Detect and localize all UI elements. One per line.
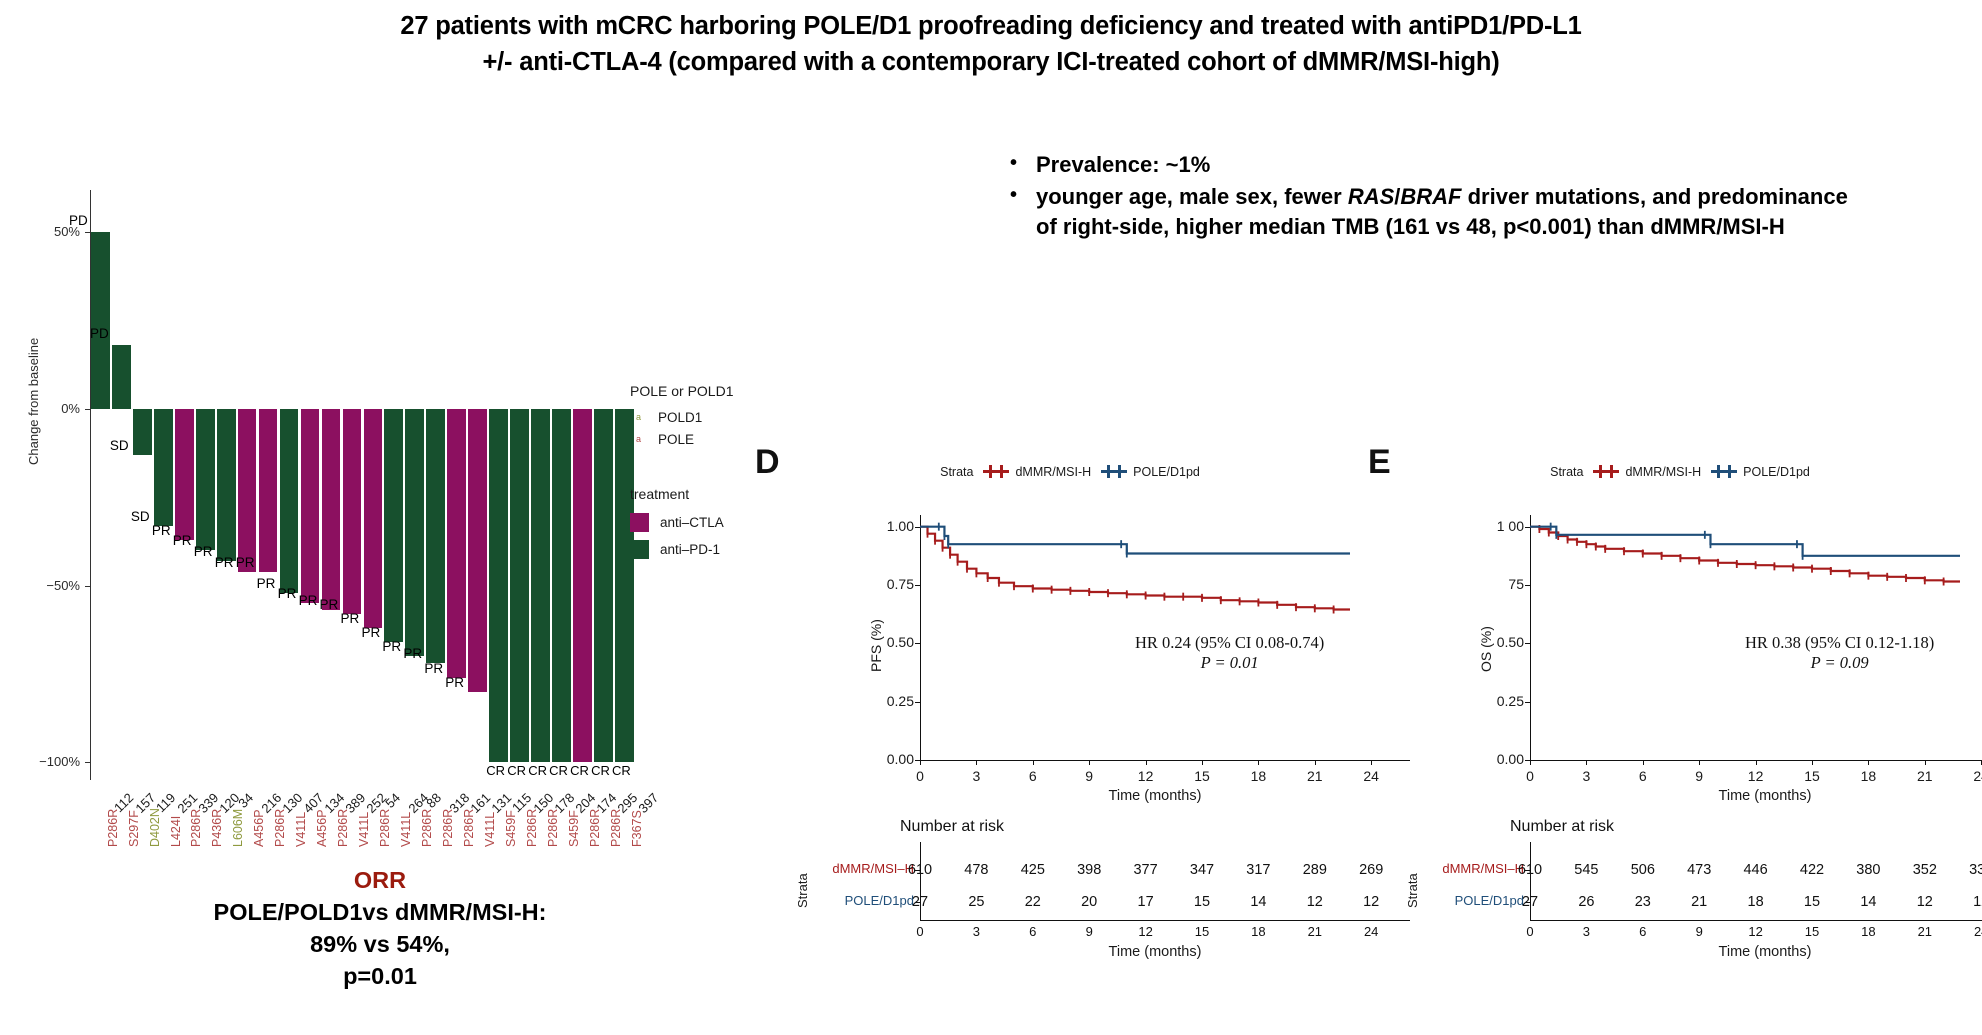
waterfall-mutation-label: L606M [231,809,245,847]
km-x-tick-label: 0 [905,768,935,784]
km-curve-pole [920,527,1350,554]
risk-table-cell: 26 [1569,894,1603,910]
waterfall-mutation-label: P286R [588,809,602,847]
risk-table-x-tick: 0 [907,924,933,939]
waterfall-response-label: PR [445,675,464,690]
waterfall-response-label: PR [320,597,339,612]
waterfall-bar[interactable] [343,409,362,614]
risk-table-x-tick: 21 [1302,924,1328,939]
km-y-tick-label: 0.00 [868,751,914,767]
orr-line2: 89% vs 54%, [140,929,620,961]
km-y-tick-label: 1 00 [1478,518,1524,534]
waterfall-response-label: PR [403,646,422,661]
waterfall-bar[interactable] [175,409,194,540]
legend-swatch [630,513,649,532]
risk-table-cell: 18 [1739,894,1773,910]
waterfall-mutation-label: L424I [169,816,183,847]
waterfall-y-tick-label: −50% [28,578,80,593]
waterfall-response-label: PD [90,326,109,341]
km-statistics-annotation: HR 0.24 (95% CI 0.08-0.74)P = 0.01 [1135,633,1324,673]
orr-line3: p=0.01 [140,961,620,993]
risk-table-cell: 473 [1682,862,1716,878]
waterfall-mutation-label: P436R [210,809,224,847]
risk-table-cell: 377 [1129,862,1163,878]
waterfall-response-label: PR [278,586,297,601]
risk-table-cell: 12 [1298,894,1332,910]
km-y-axis-line [920,515,921,760]
risk-table-title: Number at risk [900,818,1004,836]
treatment-legend: anti–CTLAanti–PD-1 [630,509,780,563]
legend-label: POLD1 [658,410,702,425]
list-item: • Prevalence: ~1% [1010,150,1870,179]
strata-legend-label: dMMR/MSI-H [1625,465,1701,479]
km-x-tick-mark [1925,760,1926,765]
risk-table-cell: 317 [1241,862,1275,878]
waterfall-mutation-label: P286R [336,809,350,847]
strata-legend-title: Strata [940,465,973,479]
km-curves [790,455,1350,770]
waterfall-bar[interactable] [154,409,173,526]
km-y-tick-label: 0.25 [1478,693,1524,709]
waterfall-bar[interactable] [301,409,320,603]
waterfall-y-tick-mark [85,409,90,410]
risk-table-x-tick: 24 [1968,924,1982,939]
km-x-tick-mark [1643,760,1644,765]
risk-table-x-tick: 0 [1517,924,1543,939]
waterfall-response-label: PR [152,523,171,538]
waterfall-tmb-label: 88 [424,790,445,811]
risk-table-x-tick: 24 [1358,924,1384,939]
km-x-tick-label: 15 [1797,768,1827,784]
waterfall-mutation-label: S459F [504,810,518,847]
pfs-kaplan-meier-panel: D StratadMMR/MSI-HPOLE/D1pdPFS (%)0.000.… [790,455,1350,985]
waterfall-response-label: PR [424,661,443,676]
km-x-tick-label: 12 [1131,768,1161,784]
waterfall-response-label: SD [131,509,150,524]
waterfall-mutation-label: F367S [630,810,644,847]
waterfall-y-tick-label: −100% [28,754,80,769]
orr-summary: ORR POLE/POLD1vs dMMR/MSI-H: 89% vs 54%,… [140,865,620,993]
waterfall-bar[interactable] [91,232,110,409]
waterfall-y-tick-label: 0% [28,401,80,416]
strata-legend-label: POLE/D1pd [1743,465,1810,479]
km-x-tick-label: 12 [1741,768,1771,784]
waterfall-bar[interactable] [426,409,445,663]
waterfall-mutation-label: P286R [273,809,287,847]
risk-table-cell: 289 [1298,862,1332,878]
slide-title-line1: 27 patients with mCRC harboring POLE/D1 … [0,8,1982,44]
waterfall-response-label: CR [591,763,610,778]
risk-table-x-tick: 12 [1743,924,1769,939]
waterfall-y-tick-mark [85,586,90,587]
bullet-text: Prevalence: ~1% [1036,150,1870,179]
risk-table-cell: 446 [1739,862,1773,878]
risk-table-x-tick: 18 [1245,924,1271,939]
risk-table-title: Number at risk [1510,818,1614,836]
km-x-tick-label: 15 [1187,768,1217,784]
km-x-axis-line [920,760,1410,761]
waterfall-mutation-label: S459F [567,810,581,847]
waterfall-bar[interactable] [217,409,236,561]
bullet-marker: • [1010,150,1036,179]
waterfall-y-tick-mark [85,762,90,763]
risk-table-x-tick: 3 [1573,924,1599,939]
waterfall-bar[interactable] [238,409,257,572]
waterfall-mutation-label: D402N [148,808,162,847]
km-y-tick-label: 0.00 [1478,751,1524,767]
risk-table-x-tick: 9 [1076,924,1102,939]
bullet-text: younger age, male sex, fewer RAS/BRAF dr… [1036,182,1870,241]
waterfall-mutation-label: P286R [525,809,539,847]
strata-legend-title: Strata [1550,465,1583,479]
km-y-axis-line [1530,515,1531,760]
km-x-tick-label: 24 [1356,768,1386,784]
km-x-tick-label: 24 [1966,768,1982,784]
km-x-tick-label: 18 [1243,768,1273,784]
waterfall-bar[interactable] [510,409,529,762]
risk-table-x-tick: 9 [1686,924,1712,939]
risk-table-row-label: POLE/D1pd [1414,893,1524,908]
risk-table-cell: 27 [903,894,937,910]
waterfall-bar[interactable] [322,409,341,610]
waterfall-mutation-label: A456P [315,809,329,847]
waterfall-response-label: PR [194,544,213,559]
risk-table-baseline [1530,920,1982,921]
risk-table-cell: 14 [1241,894,1275,910]
risk-table-cell: 12 [1964,894,1982,910]
km-x-tick-label: 6 [1018,768,1048,784]
waterfall-mutation-label: V411L [294,812,308,847]
waterfall-mutation-label: P286R [189,809,203,847]
risk-table-cell: 425 [1016,862,1050,878]
km-x-tick-mark [1868,760,1869,765]
risk-table-cell: 380 [1851,862,1885,878]
waterfall-mutation-label: P286R [420,809,434,847]
km-p-value: P = 0.01 [1135,653,1324,673]
km-x-tick-label: 6 [1628,768,1658,784]
km-hr-text: HR 0.24 (95% CI 0.08-0.74) [1135,633,1324,652]
risk-table-cell: 398 [1072,862,1106,878]
os-kaplan-meier-panel: E StratadMMR/MSI-HPOLE/D1pdOS (%)0.000.2… [1400,455,1960,985]
bullet-marker: • [1010,182,1036,241]
waterfall-mutation-label: V411L [357,812,371,847]
waterfall-bar[interactable] [280,409,299,593]
waterfall-mutation-label: V411L [483,812,497,847]
risk-table-baseline [920,920,1410,921]
waterfall-response-label: CR [570,763,589,778]
waterfall-response-label: SD [110,438,129,453]
km-x-tick-mark [1033,760,1034,765]
km-x-tick-mark [1258,760,1259,765]
risk-table-cell: 21 [1682,894,1716,910]
risk-table-cell: 14 [1851,894,1885,910]
risk-table-cell: 27 [1513,894,1547,910]
legend-item[interactable]: anti–PD-1 [630,536,780,563]
panel-letter-e: E [1368,443,1391,482]
km-x-axis-label: Time (months) [1585,788,1945,804]
km-y-tick-label: 0.75 [868,576,914,592]
km-curves [1400,455,1960,770]
km-x-tick-mark [976,760,977,765]
risk-table-x-tick: 12 [1133,924,1159,939]
waterfall-mutation-label: P286R [462,809,476,847]
km-x-tick-label: 21 [1300,768,1330,784]
waterfall-mutation-label: P286R [106,809,120,847]
km-y-tick-label: 0.50 [868,634,914,650]
risk-table-cell: 17 [1129,894,1163,910]
risk-table-cell: 23 [1626,894,1660,910]
risk-table-cell: 352 [1908,862,1942,878]
km-x-tick-mark [1530,760,1531,765]
risk-table-cell: 15 [1795,894,1829,910]
waterfall-response-label: PD [69,213,88,228]
strata-legend-swatch [1711,470,1737,473]
waterfall-response-label: PR [173,533,192,548]
waterfall-tmb-label: 54 [382,790,403,811]
waterfall-mutation-label: P286R [609,809,623,847]
waterfall-response-label: PR [257,576,276,591]
km-hr-text: HR 0.38 (95% CI 0.12-1.18) [1745,633,1934,652]
strata-legend-label: POLE/D1pd [1133,465,1200,479]
risk-table-cell: 330 [1964,862,1982,878]
risk-table-cell: 15 [1185,894,1219,910]
waterfall-plot-area: PDPDSDSDPRPRPRPRPRPRPRPRPRPRPRPRPRPRPRCR… [91,190,636,780]
risk-table-x-tick: 15 [1189,924,1215,939]
waterfall-bar[interactable] [447,409,466,678]
km-x-tick-mark [920,760,921,765]
waterfall-bar[interactable] [552,409,571,762]
slide-title-line2: +/- anti-CTLA-4 (compared with a contemp… [0,44,1982,80]
risk-table-row-label: POLE/D1pd [804,893,914,908]
risk-table-cell: 478 [959,862,993,878]
km-y-tick-label: 1.00 [868,518,914,534]
km-x-tick-mark [1756,760,1757,765]
waterfall-bar[interactable] [364,409,383,628]
waterfall-bar[interactable] [112,345,131,409]
legend-swatch-icon: a [630,409,647,426]
risk-table-x-tick: 18 [1855,924,1881,939]
risk-table-cell: 12 [1354,894,1388,910]
waterfall-response-label: PR [236,555,255,570]
waterfall-mutation-label: V411L [399,812,413,847]
waterfall-bar[interactable] [531,409,550,762]
risk-table-cell: 347 [1185,862,1219,878]
legend-label: anti–PD-1 [660,542,720,557]
waterfall-bar[interactable] [405,409,424,656]
km-curve-dmmr [1530,527,1960,588]
km-x-tick-label: 9 [1684,768,1714,784]
waterfall-mutation-label: P286R [441,809,455,847]
waterfall-y-tick-mark [85,232,90,233]
risk-table-cell: 610 [903,862,937,878]
risk-table-x-tick: 15 [1799,924,1825,939]
legend-item[interactable]: aPOLD1 [630,406,780,428]
waterfall-mutation-label: P286R [378,809,392,847]
list-item: • younger age, male sex, fewer RAS/BRAF … [1010,182,1870,241]
waterfall-response-label: PR [299,593,318,608]
waterfall-response-label: PR [215,555,234,570]
waterfall-mutation-label: S297F [127,810,141,847]
waterfall-bar[interactable] [573,409,592,762]
km-x-tick-label: 21 [1910,768,1940,784]
km-x-tick-mark [1371,760,1372,765]
legend-label: POLE [658,432,694,447]
strata-legend: StratadMMR/MSI-HPOLE/D1pd [1400,465,1960,479]
risk-table-x-tick: 21 [1912,924,1938,939]
waterfall-bar[interactable] [594,409,613,762]
km-x-tick-mark [1315,760,1316,765]
km-x-tick-label: 3 [961,768,991,784]
waterfall-response-label: CR [528,763,547,778]
waterfall-response-label: CR [507,763,526,778]
strata-legend: StratadMMR/MSI-HPOLE/D1pd [790,465,1350,479]
waterfall-bar[interactable] [133,409,152,455]
risk-table-x-tick: 3 [963,924,989,939]
km-y-tick-label: 0.25 [868,693,914,709]
legend-label: anti–CTLA [660,515,724,530]
waterfall-tmb-label: 34 [235,790,256,811]
waterfall-response-label: CR [549,763,568,778]
km-x-tick-label: 18 [1853,768,1883,784]
km-x-tick-label: 0 [1515,768,1545,784]
risk-table-cell: 12 [1908,894,1942,910]
waterfall-bar[interactable] [489,409,508,762]
risk-table-cell: 22 [1016,894,1050,910]
risk-table-cell: 422 [1795,862,1829,878]
km-x-tick-mark [1089,760,1090,765]
risk-table-x-axis-label: Time (months) [1585,944,1945,960]
risk-table-cell: 269 [1354,862,1388,878]
waterfall-mutation-label: P286R [546,809,560,847]
strata-legend-swatch [983,470,1009,473]
km-x-tick-mark [1586,760,1587,765]
km-y-tick-label: 0.50 [1478,634,1524,650]
km-x-tick-label: 9 [1074,768,1104,784]
km-x-tick-mark [1202,760,1203,765]
legend-swatch [630,540,649,559]
orr-heading: ORR [140,865,620,897]
risk-table-cell: 20 [1072,894,1106,910]
waterfall-bar[interactable] [196,409,215,550]
treatment-legend-title: treatment [630,486,780,502]
km-x-tick-label: 3 [1571,768,1601,784]
strata-legend-swatch [1101,470,1127,473]
km-x-axis-label: Time (months) [975,788,1335,804]
waterfall-response-label: CR [486,763,505,778]
waterfall-mutation-label: A456P [252,809,266,847]
risk-table-cell: 545 [1569,862,1603,878]
km-curve-pole [1530,527,1960,556]
waterfall-bar[interactable] [384,409,403,642]
km-y-tick-label: 75 [1478,576,1524,592]
waterfall-bar[interactable] [468,409,487,692]
waterfall-response-label: CR [612,763,631,778]
risk-table-x-tick: 6 [1020,924,1046,939]
risk-table-cell: 25 [959,894,993,910]
km-x-tick-mark [1812,760,1813,765]
waterfall-response-label: PR [382,639,401,654]
waterfall-response-label: PR [341,611,360,626]
km-statistics-annotation: HR 0.38 (95% CI 0.12-1.18)P = 0.09 [1745,633,1934,673]
risk-table-row-label: dMMR/MSI–H [1414,861,1524,876]
gene-legend-title: POLE or POLD1 [630,383,780,399]
waterfall-bar[interactable] [259,409,278,572]
km-x-tick-mark [1699,760,1700,765]
strata-legend-swatch [1593,470,1619,473]
km-x-tick-mark [1146,760,1147,765]
slide-title: 27 patients with mCRC harboring POLE/D1 … [0,8,1982,80]
risk-table-x-axis-label: Time (months) [975,944,1335,960]
bullet-list: • Prevalence: ~1% • younger age, male se… [1010,150,1870,244]
km-curve-dmmr [920,527,1350,616]
risk-table-row-label: dMMR/MSI–H [804,861,914,876]
waterfall-chart: Change from baseline 50%0%−50%−100% PDPD… [20,165,660,805]
risk-table-cell: 506 [1626,862,1660,878]
km-p-value: P = 0.09 [1745,653,1934,673]
risk-table-cell: 610 [1513,862,1547,878]
legend-item[interactable]: anti–CTLA [630,509,780,536]
legend-swatch-icon: a [630,431,647,448]
panel-letter-d: D [755,443,780,482]
strata-legend-label: dMMR/MSI-H [1015,465,1091,479]
risk-table-x-tick: 6 [1630,924,1656,939]
waterfall-response-label: PR [361,625,380,640]
orr-line1: POLE/POLD1vs dMMR/MSI-H: [140,897,620,929]
